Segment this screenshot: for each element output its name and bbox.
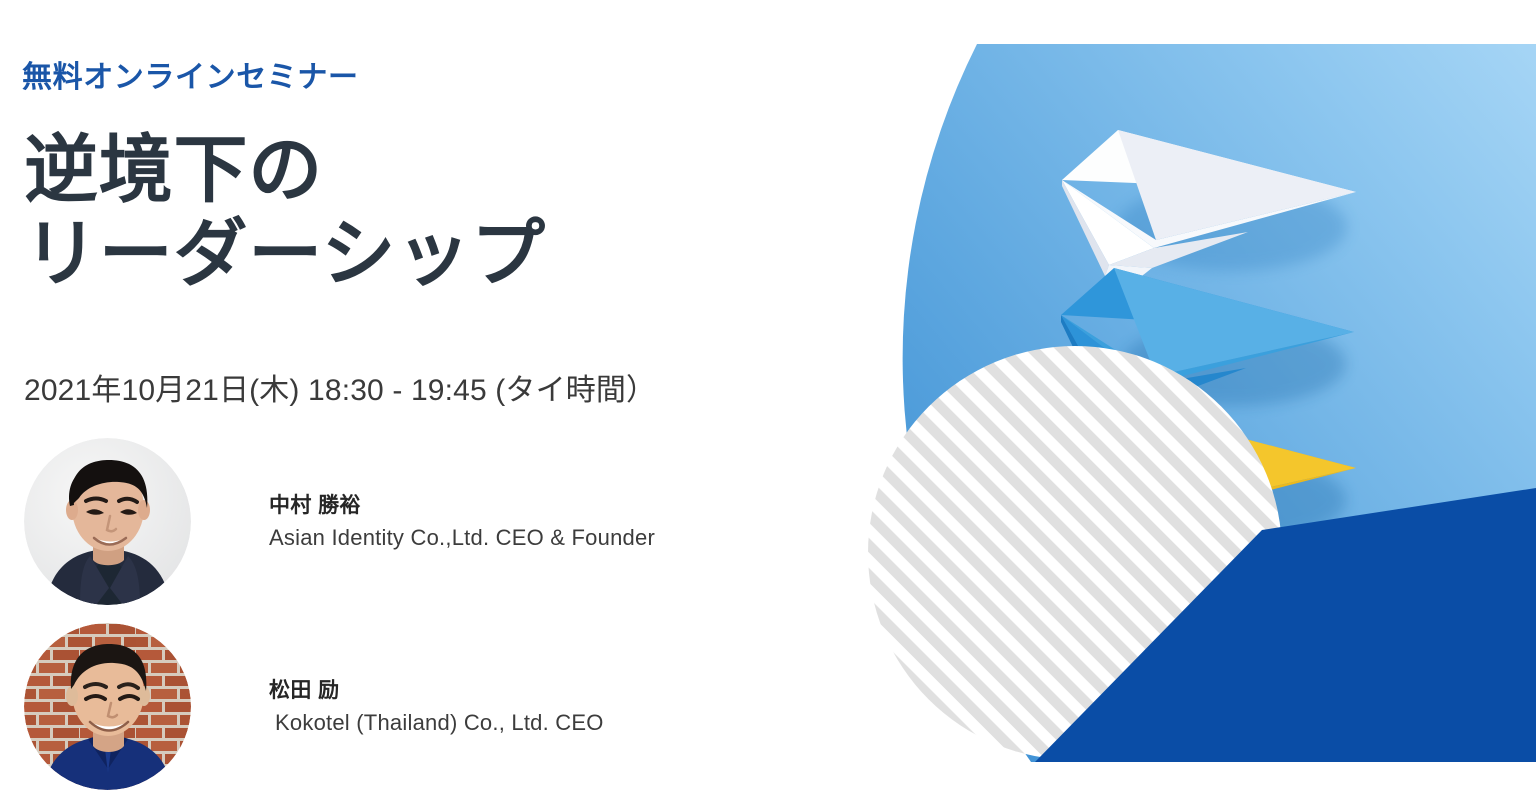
paper-planes-artwork: [856, 0, 1536, 812]
avatar: [24, 623, 191, 790]
event-datetime: 2021年10月21日(木) 18:30 - 19:45 (タイ時間）: [24, 365, 656, 409]
speaker-row: 中村 勝裕 Asian Identity Co.,Ltd. CEO & Foun…: [24, 438, 655, 605]
speaker-info: 中村 勝裕 Asian Identity Co.,Ltd. CEO & Foun…: [269, 488, 655, 556]
page-title-line-1: 逆境下の: [24, 128, 844, 212]
speaker-info: 松田 励 Kokotel (Thailand) Co., Ltd. CEO: [269, 673, 604, 741]
banner-root: 無料オンラインセミナー 逆境下の リーダーシップ 2021年10月21日(木) …: [0, 0, 1536, 812]
speaker-name: 中村 勝裕: [269, 490, 655, 522]
avatar: [24, 438, 191, 605]
speaker-row: 松田 励 Kokotel (Thailand) Co., Ltd. CEO: [24, 623, 604, 790]
page-title: 逆境下の リーダーシップ: [24, 128, 844, 295]
speaker-role: Asian Identity Co.,Ltd. CEO & Founder: [269, 521, 655, 555]
speaker-role: Kokotel (Thailand) Co., Ltd. CEO: [269, 706, 604, 740]
eyebrow-label: 無料オンラインセミナー: [22, 52, 359, 96]
text-column: 無料オンラインセミナー 逆境下の リーダーシップ 2021年10月21日(木) …: [0, 0, 880, 812]
page-title-line-2: リーダーシップ: [24, 212, 844, 296]
speaker-name: 松田 励: [269, 675, 604, 707]
